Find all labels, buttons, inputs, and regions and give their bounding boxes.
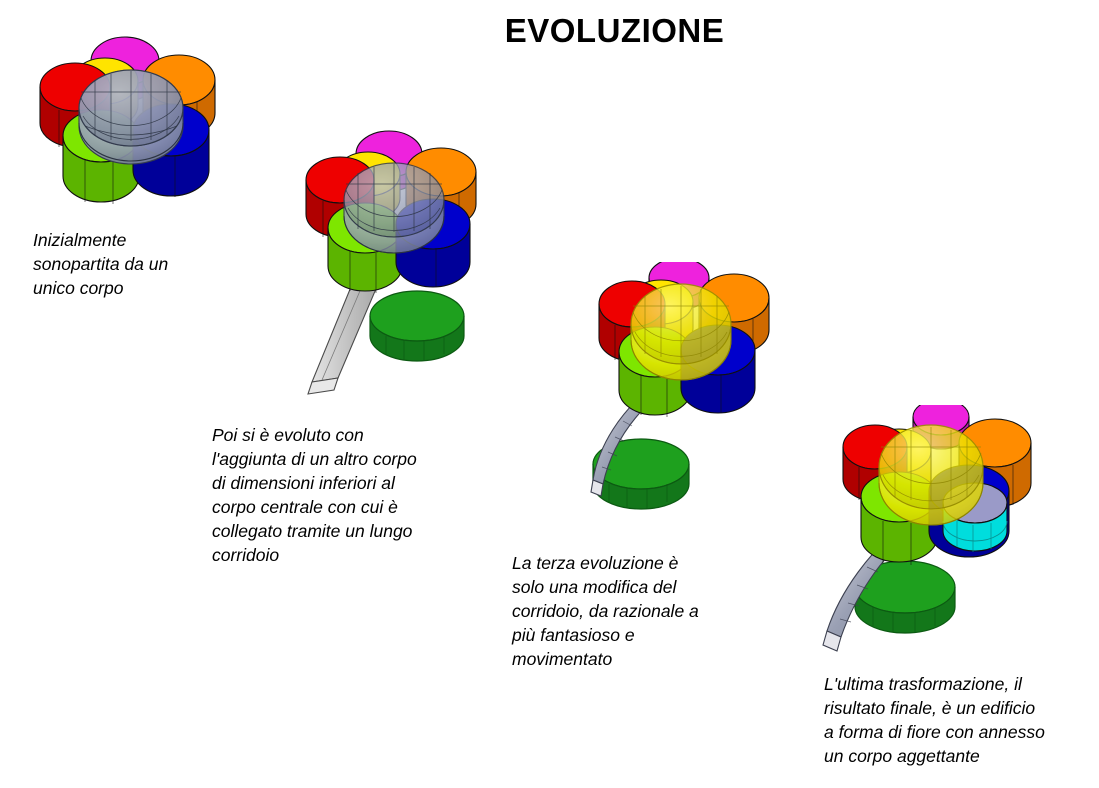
- stage-3-svg: [585, 262, 815, 547]
- stage-2-illustration: [290, 128, 520, 418]
- central-dome: [879, 425, 983, 525]
- central-dome: [631, 284, 731, 380]
- stage-2-svg: [290, 128, 520, 418]
- base-volume: [370, 291, 464, 361]
- stage-3-illustration: [585, 262, 815, 547]
- stage-1-svg: [25, 18, 255, 228]
- stage-2-caption: Poi si è evoluto con l'aggiunta di un al…: [212, 423, 482, 567]
- central-dome: [344, 163, 444, 253]
- stage-4-svg: [815, 405, 1065, 675]
- stage-3-caption: La terza evoluzione è solo una modifica …: [512, 551, 772, 671]
- stage-1-caption: Inizialmente sonopartita da un unico cor…: [33, 228, 263, 300]
- stage-1-illustration: [25, 18, 255, 228]
- stage-4-caption: L'ultima trasformazione, il risultato fi…: [824, 672, 1099, 768]
- stage-4-illustration: [815, 405, 1065, 675]
- evolution-diagram-page: EVOLUZIONE: [0, 0, 1099, 788]
- central-dome: [79, 70, 183, 164]
